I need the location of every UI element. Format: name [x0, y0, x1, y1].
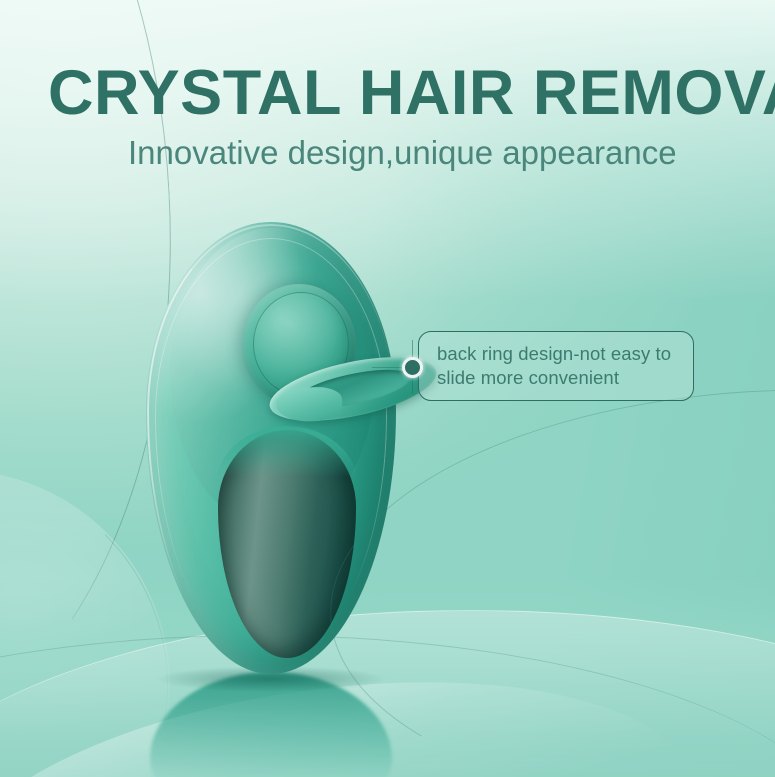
- callout-marker-dot-icon: [402, 357, 423, 378]
- page-title: CRYSTAL HAIR REMOVAL: [48, 62, 738, 125]
- feature-callout-text: back ring design-not easy to slide more …: [437, 342, 679, 390]
- product-poster: CRYSTAL HAIR REMOVAL Innovative design,u…: [0, 0, 775, 777]
- feature-callout: back ring design-not easy to slide more …: [418, 331, 694, 401]
- page-subtitle: Innovative design,unique appearance: [128, 133, 677, 173]
